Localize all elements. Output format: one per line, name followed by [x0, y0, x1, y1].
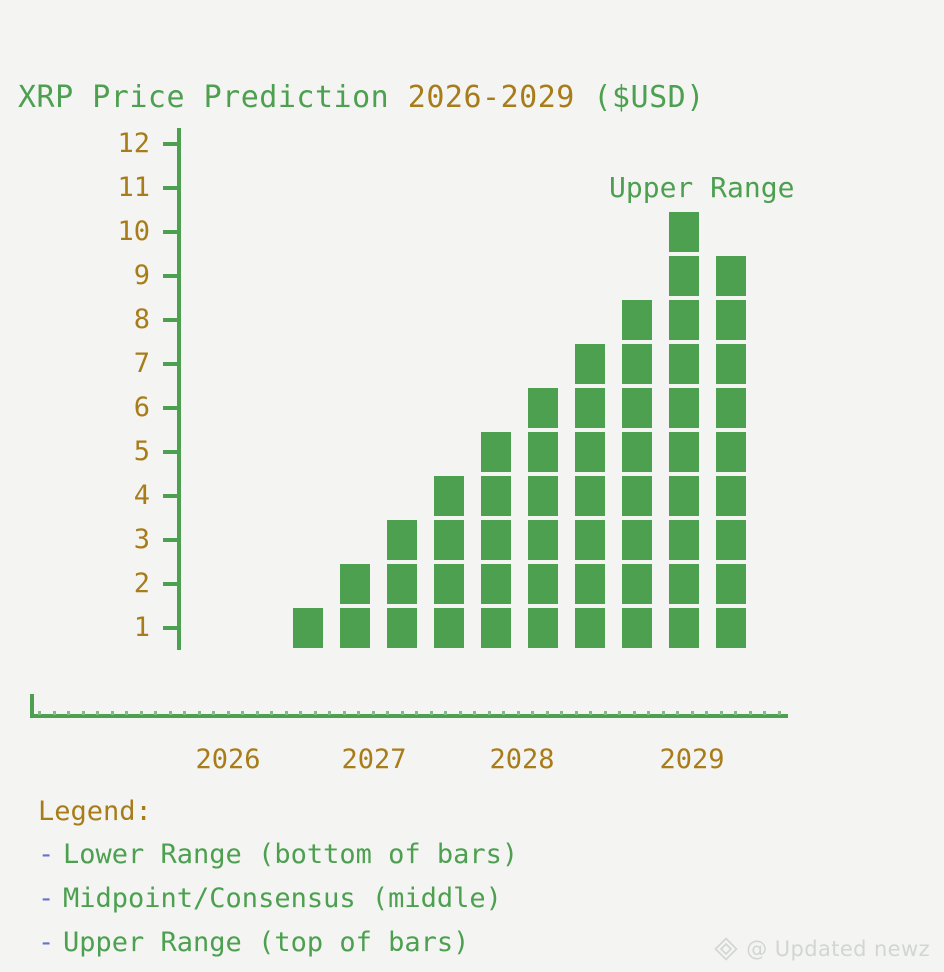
watermark-text: @ Updated newz — [746, 937, 930, 961]
y-axis-tick — [163, 626, 181, 630]
legend-bullet-dash: - — [38, 833, 63, 877]
annotation-upper-range: Upper Range — [609, 172, 794, 204]
chart-root: XRP Price Prediction 2026-2029 ($USD) 12… — [0, 0, 944, 972]
bar-block — [481, 520, 511, 560]
bar-block — [716, 520, 746, 560]
bar-block — [716, 564, 746, 604]
y-axis-tick — [163, 362, 181, 366]
x-axis-minor-tick — [169, 711, 172, 715]
bar-block — [622, 432, 652, 472]
bar-block — [716, 608, 746, 648]
x-axis-minor-tick — [183, 711, 186, 715]
x-axis-minor-tick — [285, 711, 288, 715]
bar-block — [528, 520, 558, 560]
x-axis-minor-tick — [749, 711, 752, 715]
bar-block — [669, 432, 699, 472]
x-axis-minor-tick — [111, 711, 114, 715]
y-axis-tick-label: 1 — [88, 614, 150, 641]
x-axis-minor-tick — [691, 711, 694, 715]
x-axis-minor-tick — [502, 711, 505, 715]
legend-item: -Upper Range (top of bars) — [38, 921, 518, 965]
bar-block — [434, 476, 464, 516]
bar-block — [528, 432, 558, 472]
x-axis-minor-tick — [270, 711, 273, 715]
bar-block — [340, 564, 370, 604]
y-axis-tick — [163, 406, 181, 410]
plot-area: 121110987654321 Upper Range 202620272028… — [0, 0, 944, 700]
y-axis-tick-label: 5 — [88, 438, 150, 465]
x-axis-label-2029: 2029 — [632, 745, 752, 775]
x-axis-minor-tick — [299, 711, 302, 715]
x-axis-minor-tick — [560, 711, 563, 715]
bar-block — [669, 520, 699, 560]
x-axis-minor-tick — [227, 711, 230, 715]
y-axis-tick — [163, 318, 181, 322]
x-axis-minor-tick — [488, 711, 491, 715]
bar-block — [481, 476, 511, 516]
y-axis-tick-label-text: 4 — [88, 482, 150, 509]
bar-block — [669, 564, 699, 604]
bar-block — [716, 300, 746, 340]
x-axis-minor-tick — [53, 711, 56, 715]
bar-block — [528, 564, 558, 604]
x-axis-minor-tick — [357, 711, 360, 715]
bar-block — [622, 388, 652, 428]
bar-block — [528, 388, 558, 428]
x-axis-label-2026: 2026 — [168, 745, 288, 775]
y-axis-tick-label-text: 5 — [88, 438, 150, 465]
y-axis-tick — [163, 450, 181, 454]
x-axis-label-2027: 2027 — [314, 745, 434, 775]
bar-block — [669, 300, 699, 340]
y-axis-tick-label: 9 — [88, 262, 150, 289]
x-axis-minor-tick — [531, 711, 534, 715]
bar-block — [622, 300, 652, 340]
y-axis-tick-label: 2 — [88, 570, 150, 597]
y-axis-tick-label-text: 2 — [88, 570, 150, 597]
x-axis-minor-tick — [575, 711, 578, 715]
y-axis-tick — [163, 142, 181, 146]
bar-block — [528, 608, 558, 648]
diamond-logo-icon — [713, 936, 739, 962]
x-axis-line — [30, 714, 788, 718]
x-axis-minor-tick — [38, 711, 41, 715]
x-axis-minor-tick — [546, 711, 549, 715]
legend-items: -Lower Range (bottom of bars)-Midpoint/C… — [38, 833, 518, 965]
bar-block — [669, 388, 699, 428]
y-axis-tick-label-text: 7 — [88, 350, 150, 377]
x-axis-minor-tick — [633, 711, 636, 715]
y-axis-tick-label-text: 1 — [88, 614, 150, 641]
bar-block — [387, 608, 417, 648]
bar-block — [293, 608, 323, 648]
x-axis-minor-tick — [589, 711, 592, 715]
y-axis-tick — [163, 582, 181, 586]
y-axis-tick-label-text: 10 — [88, 218, 150, 245]
x-axis-minor-tick — [676, 711, 679, 715]
x-axis-minor-tick — [473, 711, 476, 715]
bar-block — [716, 388, 746, 428]
y-axis-tick-label: 4 — [88, 482, 150, 509]
y-axis-tick-label-text: 3 — [88, 526, 150, 553]
x-axis-minor-tick — [154, 711, 157, 715]
x-axis-minor-tick — [343, 711, 346, 715]
bar-block — [669, 608, 699, 648]
y-axis-tick-label-text: 11 — [88, 174, 150, 201]
legend-item-label: Midpoint/Consensus (middle) — [63, 877, 502, 921]
bar-block — [622, 564, 652, 604]
x-axis-minor-tick — [386, 711, 389, 715]
bar-block — [387, 564, 417, 604]
legend-item-label: Upper Range (top of bars) — [63, 921, 469, 965]
y-axis-tick — [163, 186, 181, 190]
bar-block — [716, 344, 746, 384]
bar-block — [716, 256, 746, 296]
bar-block — [575, 476, 605, 516]
y-axis-tick-label: 7 — [88, 350, 150, 377]
x-axis-minor-tick — [241, 711, 244, 715]
y-axis-tick — [163, 230, 181, 234]
y-axis-tick-label: 6 — [88, 394, 150, 421]
legend-title: Legend: — [38, 790, 518, 833]
bar-block — [481, 608, 511, 648]
y-axis-tick — [163, 494, 181, 498]
x-axis-minor-tick — [212, 711, 215, 715]
x-axis-minor-tick — [372, 711, 375, 715]
x-axis-minor-tick — [401, 711, 404, 715]
watermark: @ Updated newz — [713, 936, 930, 962]
legend-bullet-dash: - — [38, 921, 63, 965]
bar-block — [575, 608, 605, 648]
y-axis-tick-label-text: 9 — [88, 262, 150, 289]
bar-block — [434, 564, 464, 604]
bar-block — [528, 476, 558, 516]
y-axis-tick-label: 12 — [88, 130, 150, 157]
x-axis-minor-tick — [82, 711, 85, 715]
bar-block — [716, 432, 746, 472]
x-axis-minor-tick — [140, 711, 143, 715]
x-axis-minor-tick — [96, 711, 99, 715]
bar-block — [669, 476, 699, 516]
x-axis-minor-tick — [444, 711, 447, 715]
x-axis-minor-tick — [256, 711, 259, 715]
bar-block — [622, 476, 652, 516]
y-axis-tick — [163, 538, 181, 542]
x-axis-minor-tick — [415, 711, 418, 715]
bar-block — [340, 608, 370, 648]
bar-block — [575, 520, 605, 560]
bar-block — [387, 520, 417, 560]
x-axis-minor-tick — [720, 711, 723, 715]
bar-block — [622, 608, 652, 648]
legend-item-label: Lower Range (bottom of bars) — [63, 833, 518, 877]
bar-block — [575, 344, 605, 384]
bar-block — [622, 344, 652, 384]
x-axis-minor-tick — [459, 711, 462, 715]
x-axis-minor-tick — [647, 711, 650, 715]
y-axis-tick-label: 8 — [88, 306, 150, 333]
legend-item: -Lower Range (bottom of bars) — [38, 833, 518, 877]
y-axis-tick-label: 10 — [88, 218, 150, 245]
x-axis-label-2028: 2028 — [462, 745, 582, 775]
bar-block — [575, 388, 605, 428]
x-axis-minor-tick — [125, 711, 128, 715]
bar-block — [669, 256, 699, 296]
x-axis-minor-tick — [198, 711, 201, 715]
x-axis-minor-tick — [328, 711, 331, 715]
x-axis-minor-tick — [778, 711, 781, 715]
x-axis-minor-tick — [430, 711, 433, 715]
x-axis-minor-tick — [763, 711, 766, 715]
x-axis-minor-tick — [705, 711, 708, 715]
bar-block — [575, 564, 605, 604]
bar-block — [669, 344, 699, 384]
x-axis-minor-tick — [662, 711, 665, 715]
bar-block — [575, 432, 605, 472]
legend-bullet-dash: - — [38, 877, 63, 921]
x-axis-minor-tick — [734, 711, 737, 715]
x-axis-minor-tick — [67, 711, 70, 715]
x-axis-minor-tick — [517, 711, 520, 715]
y-axis-tick-label-text: 6 — [88, 394, 150, 421]
bar-block — [434, 520, 464, 560]
x-axis-minor-tick — [314, 711, 317, 715]
bar-block — [481, 564, 511, 604]
y-axis-tick-label-text: 8 — [88, 306, 150, 333]
x-axis-minor-tick — [618, 711, 621, 715]
y-axis-tick-label: 11 — [88, 174, 150, 201]
y-axis-line — [177, 128, 181, 650]
legend: Legend: -Lower Range (bottom of bars)-Mi… — [38, 790, 518, 965]
bar-block — [434, 608, 464, 648]
bar-block — [622, 520, 652, 560]
bar-block — [669, 212, 699, 252]
x-axis-minor-tick — [604, 711, 607, 715]
legend-item: -Midpoint/Consensus (middle) — [38, 877, 518, 921]
y-axis-tick-label: 3 — [88, 526, 150, 553]
y-axis-tick — [163, 274, 181, 278]
bar-block — [716, 476, 746, 516]
y-axis-tick-label-text: 12 — [88, 130, 150, 157]
bar-block — [481, 432, 511, 472]
